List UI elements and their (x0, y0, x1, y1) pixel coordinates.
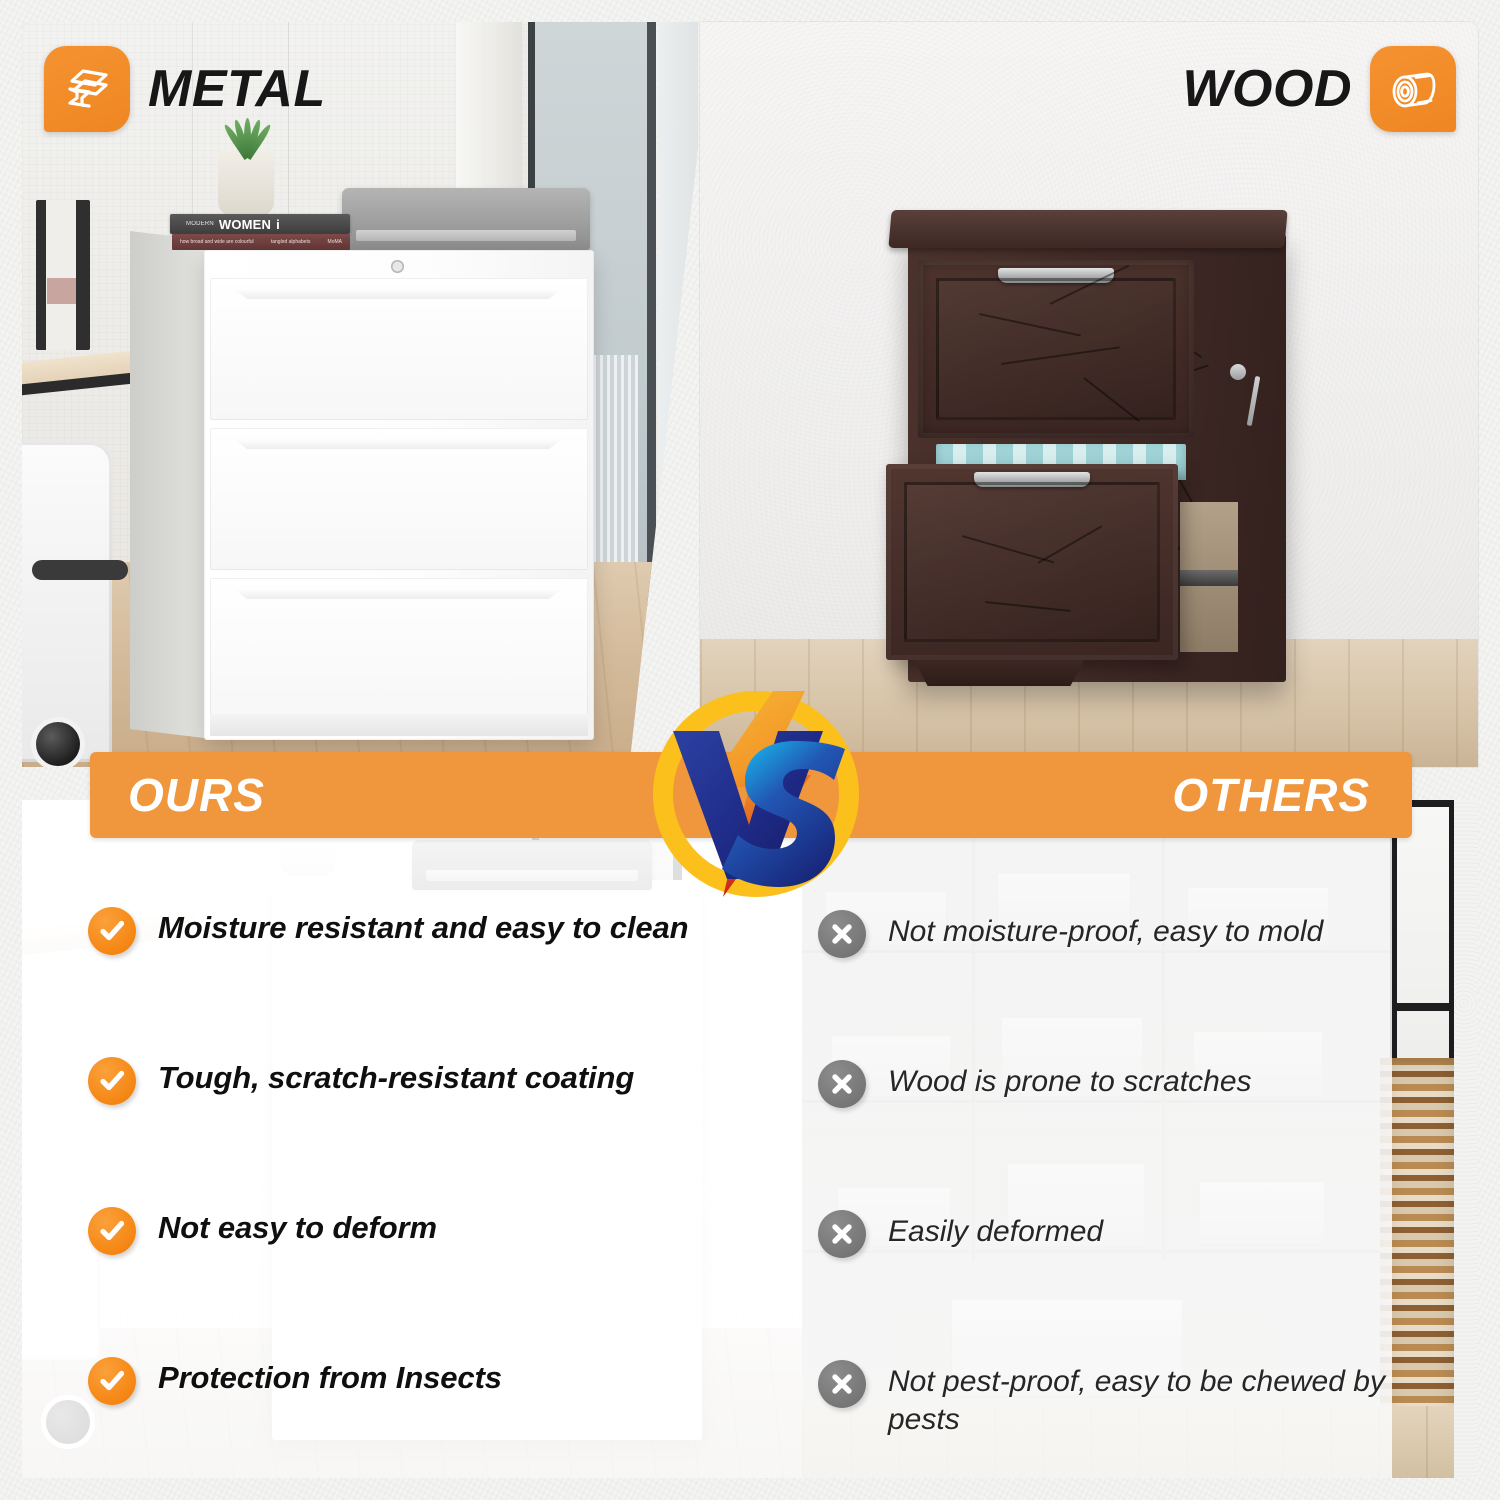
book-sub-right: MoMA (328, 239, 342, 245)
drawer-slide-rail (1180, 502, 1238, 652)
pros-item-label: Tough, scratch-resistant coating (158, 1055, 634, 1097)
chair-caster (36, 722, 80, 766)
drawer-handle (234, 439, 562, 449)
drawer-handle (234, 289, 562, 299)
white-metal-cabinet (204, 250, 594, 740)
banner-ours-label: OURS (128, 768, 265, 822)
list-item: Tough, scratch-resistant coating (88, 1055, 768, 1205)
book-brand: MODERN (186, 221, 214, 227)
cabinet-drawer-lower-open (886, 464, 1178, 660)
chair-armrest (32, 560, 128, 580)
wood-filing-cabinet (878, 202, 1298, 682)
office-chair (22, 442, 112, 762)
list-item: Easily deformed (818, 1208, 1438, 1358)
drawer-handle (234, 589, 562, 599)
book-sub-left: how broad and wide are colourful (180, 239, 254, 245)
check-circle-icon (88, 907, 136, 955)
book-spine-bottom: how broad and wide are colourful tangled… (172, 234, 350, 250)
badge-wood: WOOD (1182, 46, 1456, 132)
book-spine-top: MODERN WOMEN i (170, 214, 350, 234)
book-mark: i (276, 217, 280, 232)
comparison-infographic: MODERN WOMEN i how broad and wide are co… (0, 0, 1500, 1500)
wood-log-rings-icon (1370, 46, 1456, 132)
book-sub-center: tangled alphabets (271, 239, 310, 245)
plant-pot (218, 150, 274, 216)
badge-metal: METAL (44, 46, 326, 132)
cabinet-lock-icon (391, 260, 404, 273)
drawer-panel-inset (936, 278, 1176, 420)
cabinet-key (1247, 376, 1261, 426)
drawer-panel-inset (904, 482, 1160, 642)
printer (342, 188, 590, 250)
pros-item-label: Not easy to deform (158, 1205, 437, 1247)
photo-metal-cabinet: MODERN WOMEN i how broad and wide are co… (22, 22, 712, 767)
cons-item-label: Easily deformed (888, 1208, 1103, 1251)
list-item: Wood is prone to scratches (818, 1058, 1438, 1208)
pros-item-label: Moisture resistant and easy to clean (158, 905, 688, 947)
cabinet-drawer (210, 578, 588, 720)
check-circle-icon (88, 1357, 136, 1405)
book-title: WOMEN (219, 217, 271, 232)
list-item: Moisture resistant and easy to clean (88, 905, 768, 1055)
x-circle-icon (818, 1360, 866, 1408)
cabinet-drawer (210, 278, 588, 420)
pros-feature-list: Moisture resistant and easy to clean Tou… (88, 905, 768, 1500)
cons-item-label: Not moisture-proof, easy to mold (888, 908, 1323, 951)
pros-item-label: Protection from Insects (158, 1355, 502, 1397)
book-stack: MODERN WOMEN i how broad and wide are co… (170, 214, 350, 252)
list-item: Not easy to deform (88, 1205, 768, 1355)
office-binder (36, 200, 90, 350)
cabinet-top-surface (888, 210, 1287, 248)
check-circle-icon (88, 1207, 136, 1255)
x-circle-icon (818, 1210, 866, 1258)
cabinet-base (210, 714, 588, 736)
cons-item-label: Wood is prone to scratches (888, 1058, 1252, 1101)
cabinet-lock-icon (1230, 364, 1246, 380)
photo-wood-cabinet (700, 22, 1478, 767)
banner-others-label: OTHERS (1172, 768, 1370, 822)
cabinet-foot (914, 660, 1084, 686)
list-item: Not pest-proof, easy to be chewed by pes… (818, 1358, 1438, 1500)
cabinet-drawer-upper (918, 260, 1194, 438)
cons-feature-list: Not moisture-proof, easy to mold Wood is… (818, 908, 1438, 1500)
cabinet-side-panel (130, 231, 212, 739)
cons-item-label: Not pest-proof, easy to be chewed by pes… (888, 1358, 1438, 1438)
badge-wood-label: WOOD (1182, 59, 1352, 119)
metal-beams-icon (44, 46, 130, 132)
list-item: Protection from Insects (88, 1355, 768, 1500)
cabinet-drawer (210, 428, 588, 570)
wall-edge-strip (1454, 800, 1478, 1478)
check-circle-icon (88, 1057, 136, 1105)
x-circle-icon (818, 910, 866, 958)
x-circle-icon (818, 1060, 866, 1108)
badge-metal-label: METAL (148, 59, 326, 119)
versus-lightning-badge-icon (645, 683, 867, 905)
list-item: Not moisture-proof, easy to mold (818, 908, 1438, 1058)
